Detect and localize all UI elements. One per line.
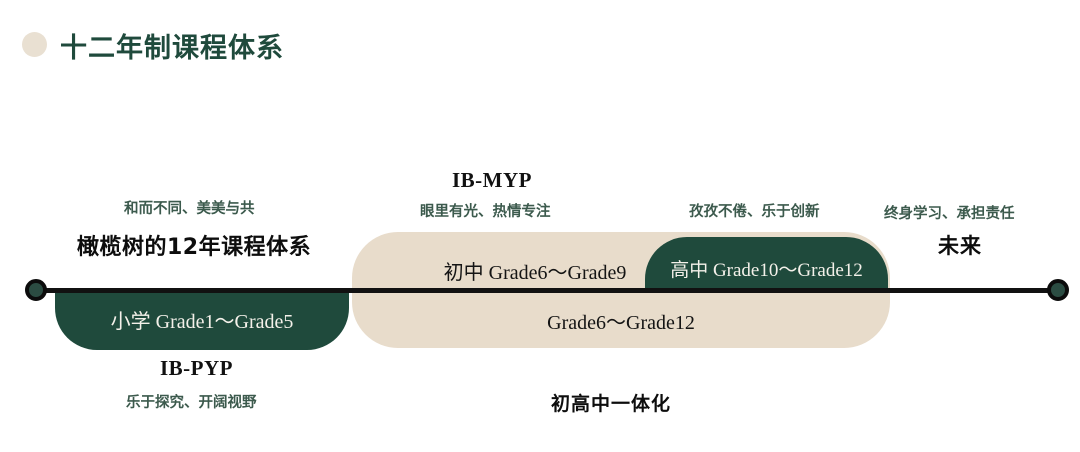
stage-primary-heading: 橄榄树的12年课程体系 bbox=[77, 229, 311, 261]
stage-band-high[interactable]: 高中 Grade10～Grade12 bbox=[645, 237, 888, 293]
dot-bullet-icon bbox=[22, 32, 47, 57]
stage-future-heading: 未来 bbox=[938, 230, 982, 260]
stage-middle-programme: IB-MYP bbox=[452, 168, 532, 193]
stage-middle-motto: 眼里有光、热情专注 bbox=[420, 200, 551, 221]
combined-band-label: Grade6～Grade12 bbox=[352, 306, 890, 335]
stage-primary-motto: 和而不同、美美与共 bbox=[124, 197, 255, 218]
timeline-axis bbox=[35, 288, 1059, 293]
timeline-end-dot-icon bbox=[1047, 279, 1069, 301]
slide-header: 十二年制课程体系 bbox=[0, 0, 1080, 88]
stage-band-primary[interactable]: 小学 Grade1～Grade5 bbox=[55, 288, 349, 350]
page-title: 十二年制课程体系 bbox=[60, 26, 284, 65]
stage-band-high-label: 高中 Grade10～Grade12 bbox=[645, 255, 888, 282]
stage-future-motto: 终身学习、承担责任 bbox=[884, 202, 1015, 223]
stage-band-primary-label: 小学 Grade1～Grade5 bbox=[55, 305, 349, 334]
stage-high-motto: 孜孜不倦、乐于创新 bbox=[689, 200, 820, 221]
stage-primary-programme-motto: 乐于探究、开阔视野 bbox=[126, 391, 257, 412]
diagram-footer-label: 初高中一体化 bbox=[551, 389, 671, 416]
timeline-start-dot-icon bbox=[25, 279, 47, 301]
slide-canvas: 十二年制课程体系 小学 Grade1～Grade5 初中 Grade6～Grad… bbox=[0, 0, 1080, 452]
stage-primary-programme: IB-PYP bbox=[160, 356, 233, 381]
